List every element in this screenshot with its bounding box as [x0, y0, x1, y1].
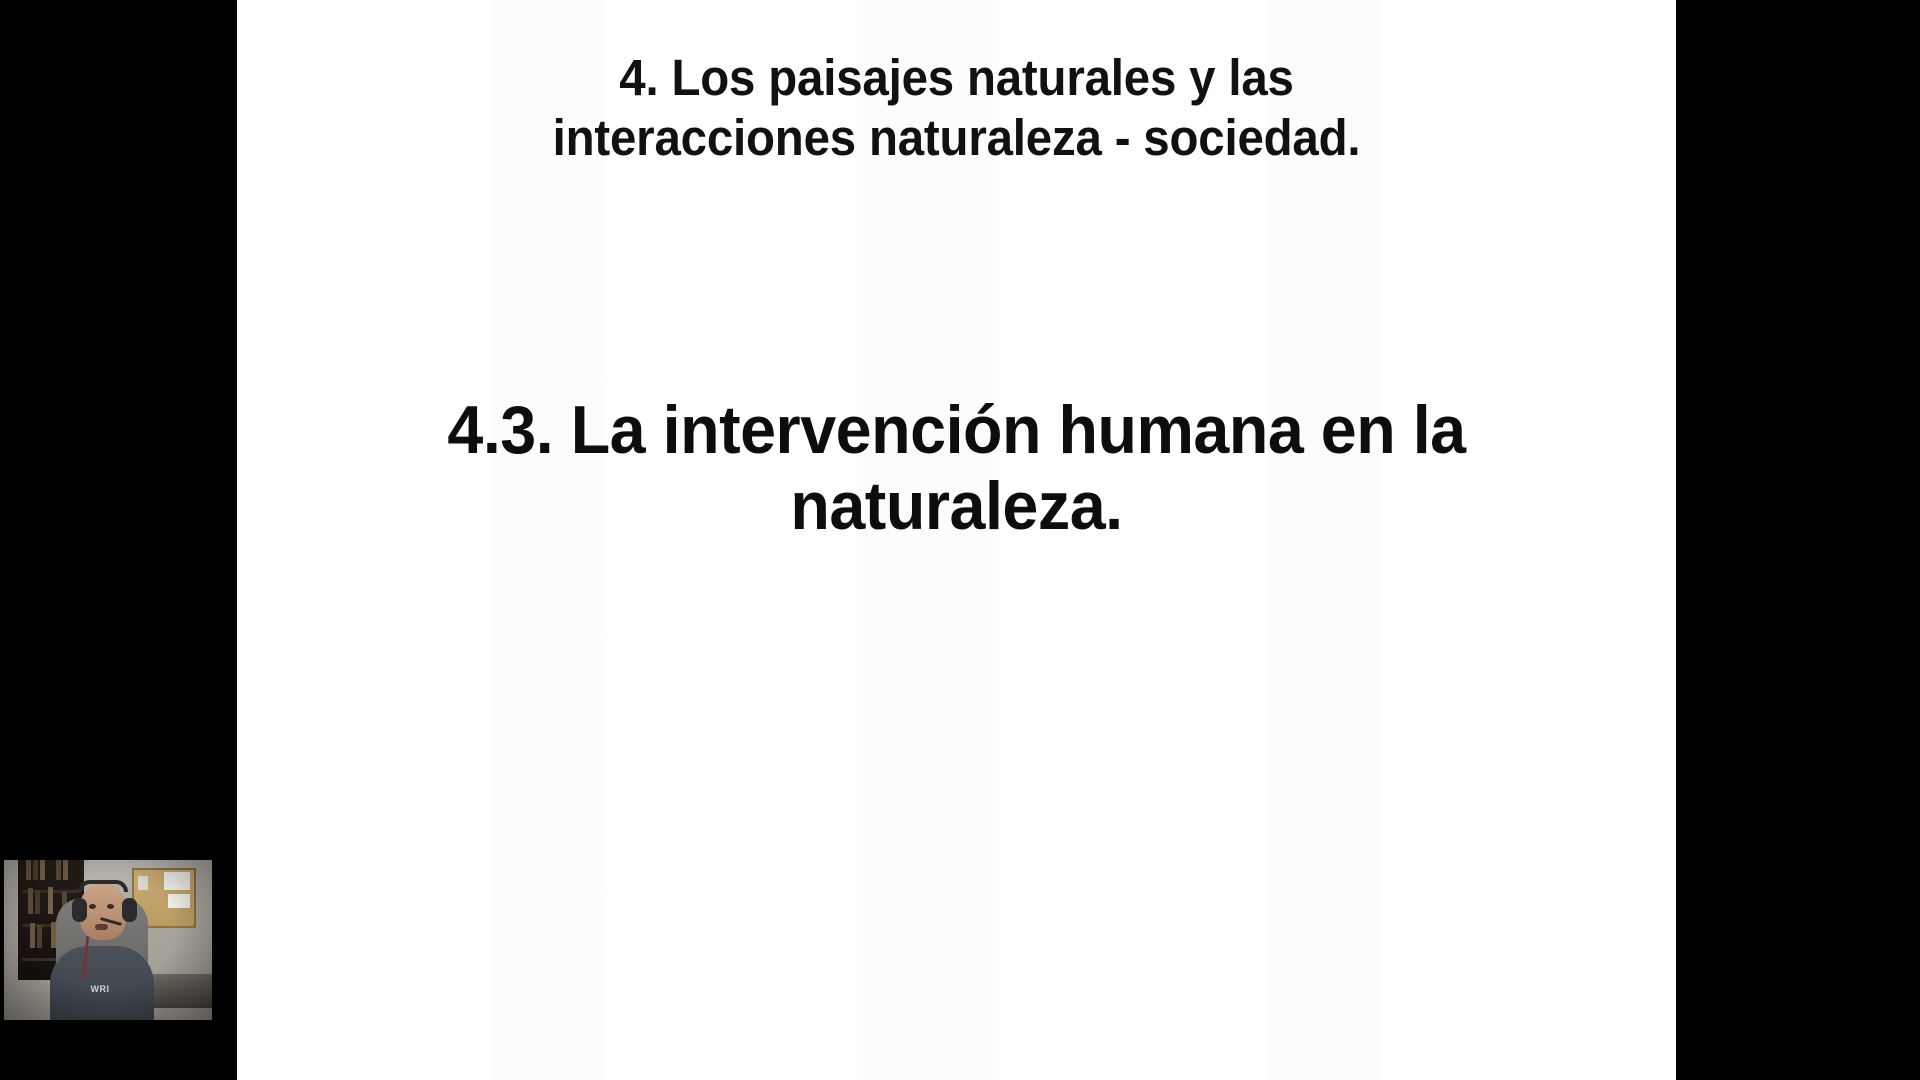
video-vignette [4, 860, 212, 1020]
slide-heading-line-1: 4.3. La intervención humana en la [311, 392, 1602, 468]
letterbox-right [1676, 0, 1920, 1080]
slide-heading: 4.3. La intervención humana en la natura… [273, 392, 1640, 544]
slide-title-line-2: interacciones naturaleza - sociedad. [343, 108, 1570, 168]
webcam-overlay[interactable]: WRI [4, 860, 212, 1020]
shared-slide[interactable]: 4. Los paisajes naturales y las interacc… [237, 0, 1676, 1080]
slide-content: 4. Los paisajes naturales y las interacc… [237, 0, 1676, 1080]
presentation-stage: 4. Los paisajes naturales y las interacc… [0, 0, 1920, 1080]
slide-heading-line-2: naturaleza. [311, 468, 1602, 544]
slide-title-line-1: 4. Los paisajes naturales y las [343, 48, 1570, 108]
webcam-video-frame: WRI [4, 860, 212, 1020]
slide-title: 4. Los paisajes naturales y las interacc… [287, 48, 1625, 168]
